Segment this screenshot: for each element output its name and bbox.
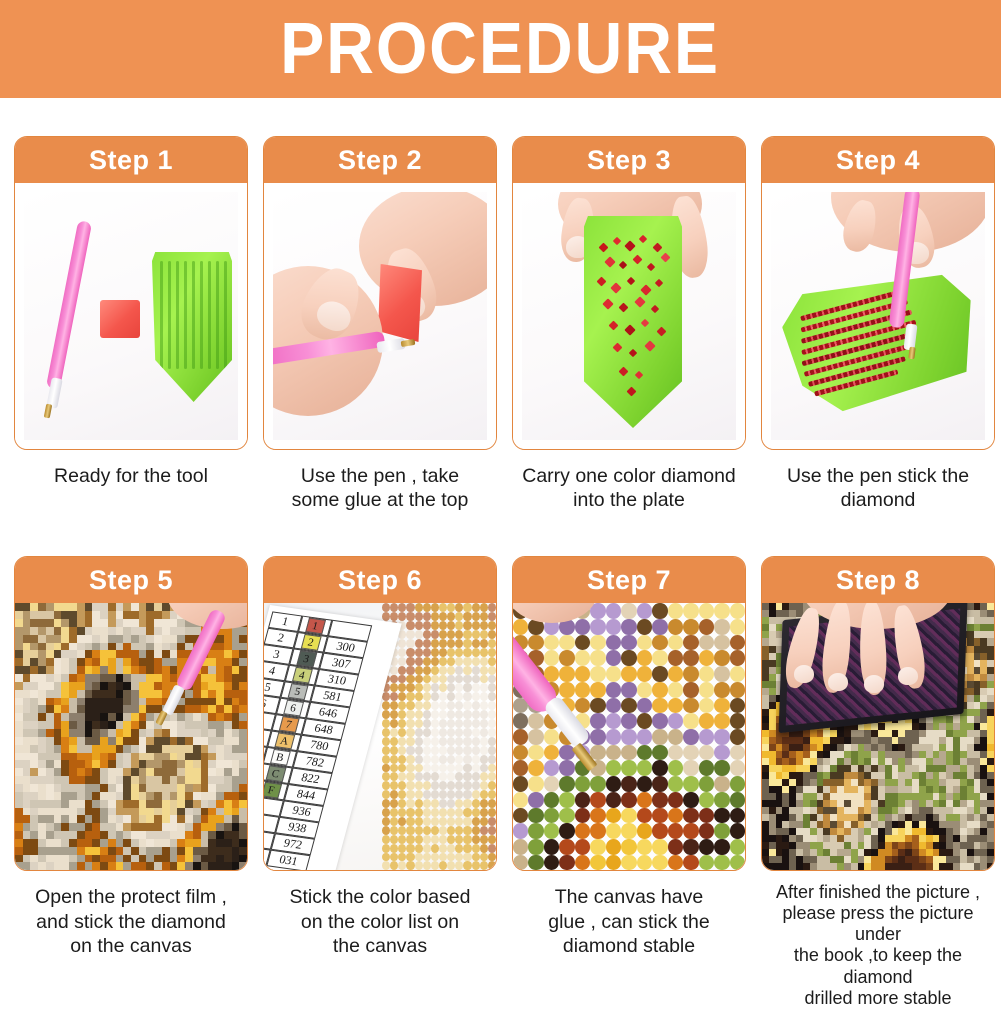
step-header-8: Step 8: [762, 557, 994, 603]
red-diamond-pile: [522, 192, 736, 440]
step-body-1: [15, 183, 247, 449]
caption-line: and stick the diamond: [16, 910, 246, 934]
step-caption-2: Use the pen , take some glue at the top: [263, 464, 497, 512]
caption-line: the canvas: [265, 934, 495, 958]
caption-line: diamond stable: [514, 934, 744, 958]
step-card-1[interactable]: Step 1: [14, 136, 248, 450]
step-cell-6: Step 6 112230033307443105558166646776488…: [263, 556, 497, 1008]
step-header-2: Step 2: [264, 137, 496, 183]
step-body-3: [513, 183, 745, 449]
step-caption-4: Use the pen stick the diamond: [761, 464, 995, 512]
step-header-3: Step 3: [513, 137, 745, 183]
step-card-4[interactable]: Step 4: [761, 136, 995, 450]
step-cell-2: Step 2: [263, 136, 497, 512]
step-header-6: Step 6: [264, 557, 496, 603]
step-caption-3: Carry one color diamond into the plate: [512, 464, 746, 512]
step-cell-1: Step 1: [14, 136, 248, 512]
step-header-label-7: Step 7: [587, 565, 671, 596]
steps-row-1: Step 1: [0, 136, 1001, 512]
step-body-2: [264, 183, 496, 449]
step-cell-4: Step 4: [761, 136, 995, 512]
step-cell-8: Step 8: [761, 556, 995, 1008]
step-header-label-2: Step 2: [338, 145, 422, 176]
step-header-label-8: Step 8: [836, 565, 920, 596]
step-header-label-6: Step 6: [338, 565, 422, 596]
page-banner: PROCEDURE: [0, 0, 1001, 98]
step-photo-1: [24, 192, 238, 440]
glue-square-icon: [100, 300, 140, 338]
round-bead-mosaic: [513, 603, 745, 870]
step-header-label-5: Step 5: [89, 565, 173, 596]
procedure-infographic: PROCEDURE Step 1: [0, 0, 1001, 1001]
step-card-8[interactable]: Step 8: [761, 556, 995, 871]
step-card-6[interactable]: Step 6 112230033307443105558166646776488…: [263, 556, 497, 871]
step-body-8: [762, 603, 994, 870]
step-header-5: Step 5: [15, 557, 247, 603]
caption-line: on the canvas: [16, 934, 246, 958]
step-photo-2: [273, 192, 487, 440]
caption-line: Use the pen , take: [265, 464, 495, 488]
step-body-4: [762, 183, 994, 449]
step-body-5: [15, 603, 247, 870]
caption-line: Use the pen stick the: [763, 464, 993, 488]
step-card-5[interactable]: Step 5: [14, 556, 248, 871]
step-photo-8: [762, 603, 994, 870]
step-body-6: 112230033307443105558166646776488A780B78…: [264, 603, 496, 870]
step-photo-4: [771, 192, 985, 440]
caption-line: Open the protect film ,: [16, 885, 246, 909]
caption-line: Carry one color diamond: [514, 464, 744, 488]
step-header-label-1: Step 1: [89, 145, 173, 176]
fingernail: [898, 667, 918, 685]
fingernail: [794, 665, 814, 683]
caption-line: the book ,to keep the diamond: [763, 945, 993, 987]
step-photo-6: 112230033307443105558166646776488A780B78…: [264, 603, 496, 870]
step-header-1: Step 1: [15, 137, 247, 183]
step-cell-5: Step 5 Open the protect film , and stick…: [14, 556, 248, 1008]
caption-line: please press the picture under: [763, 903, 993, 945]
steps-row-2: Step 5 Open the protect film , and stick…: [0, 556, 1001, 1008]
step-body-7: [513, 603, 745, 870]
step-header-7: Step 7: [513, 557, 745, 603]
fingernail: [864, 675, 884, 693]
caption-line: diamond: [763, 488, 993, 512]
caption-line: The canvas have: [514, 885, 744, 909]
caption-line: some glue at the top: [265, 488, 495, 512]
step-photo-3: [522, 192, 736, 440]
step-caption-8: After finished the picture , please pres…: [761, 882, 995, 1008]
step-header-4: Step 4: [762, 137, 994, 183]
step-header-label-3: Step 3: [587, 145, 671, 176]
step-header-label-4: Step 4: [836, 145, 920, 176]
step-caption-7: The canvas have glue , can stick the dia…: [512, 885, 746, 958]
step-caption-1: Ready for the tool: [14, 464, 248, 488]
caption-line: Stick the color based: [265, 885, 495, 909]
fingernail: [828, 673, 848, 691]
caption-line: glue , can stick the: [514, 910, 744, 934]
page-title: PROCEDURE: [281, 13, 721, 85]
caption-line: into the plate: [514, 488, 744, 512]
caption-line: on the color list on: [265, 910, 495, 934]
step-cell-3: Step 3: [512, 136, 746, 512]
caption-line: Ready for the tool: [16, 464, 246, 488]
step-cell-7: Step 7 The canvas have glue , can stick …: [512, 556, 746, 1008]
step-caption-5: Open the protect film , and stick the di…: [14, 885, 248, 958]
caption-line: After finished the picture ,: [763, 882, 993, 903]
red-glue-block-icon: [378, 264, 422, 342]
step-card-7[interactable]: Step 7: [512, 556, 746, 871]
step-card-2[interactable]: Step 2: [263, 136, 497, 450]
canvas-beads: [382, 603, 496, 870]
step-caption-6: Stick the color based on the color list …: [263, 885, 497, 958]
step-card-3[interactable]: Step 3: [512, 136, 746, 450]
step-photo-7: [513, 603, 745, 870]
caption-line: drilled more stable: [763, 988, 993, 1009]
step-photo-5: [15, 603, 247, 870]
